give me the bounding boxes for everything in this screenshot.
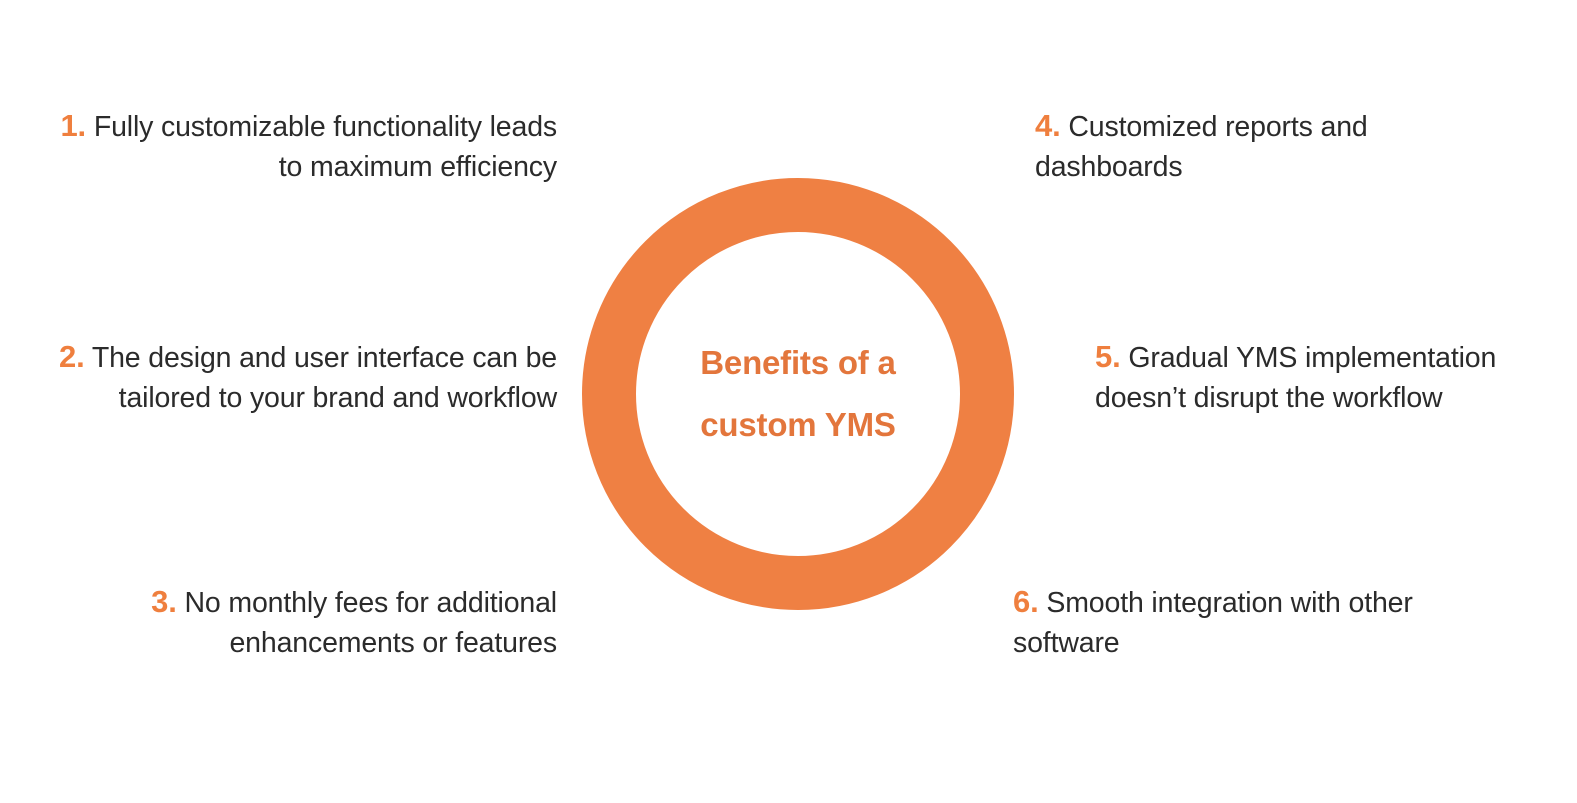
benefit-item-4: 4. Customized reports and dashboards [1035, 106, 1505, 187]
benefit-number-6: 6. [1013, 584, 1039, 619]
benefit-text-4: Customized reports and dashboards [1035, 111, 1368, 183]
benefit-text-5: Gradual YMS implementation doesn’t disru… [1095, 342, 1496, 414]
benefit-item-6: 6. Smooth integration with other softwar… [1013, 582, 1483, 663]
center-ring-group: Benefits of a custom YMS [582, 178, 1014, 610]
center-title: Benefits of a custom YMS [648, 332, 948, 456]
benefit-text-2: The design and user interface can be tai… [92, 342, 557, 414]
center-title-line-2: custom YMS [648, 394, 948, 456]
benefit-item-3: 3. No monthly fees for additional enhanc… [37, 582, 557, 663]
center-title-line-1: Benefits of a [648, 332, 948, 394]
benefit-item-1: 1. Fully customizable functionality lead… [37, 106, 557, 187]
benefits-infographic: Benefits of a custom YMS 1. Fully custom… [0, 0, 1577, 803]
benefit-item-5: 5. Gradual YMS implementation doesn’t di… [1095, 337, 1525, 418]
benefit-text-6: Smooth integration with other software [1013, 587, 1413, 659]
benefit-number-2: 2. [59, 339, 85, 374]
benefit-number-1: 1. [60, 108, 86, 143]
benefit-number-5: 5. [1095, 339, 1121, 374]
benefit-number-4: 4. [1035, 108, 1061, 143]
benefit-text-3: No monthly fees for additional enhanceme… [184, 587, 557, 659]
benefit-number-3: 3. [151, 584, 177, 619]
benefit-text-1: Fully customizable functionality leads t… [94, 111, 557, 183]
benefit-item-2: 2. The design and user interface can be … [37, 337, 557, 418]
